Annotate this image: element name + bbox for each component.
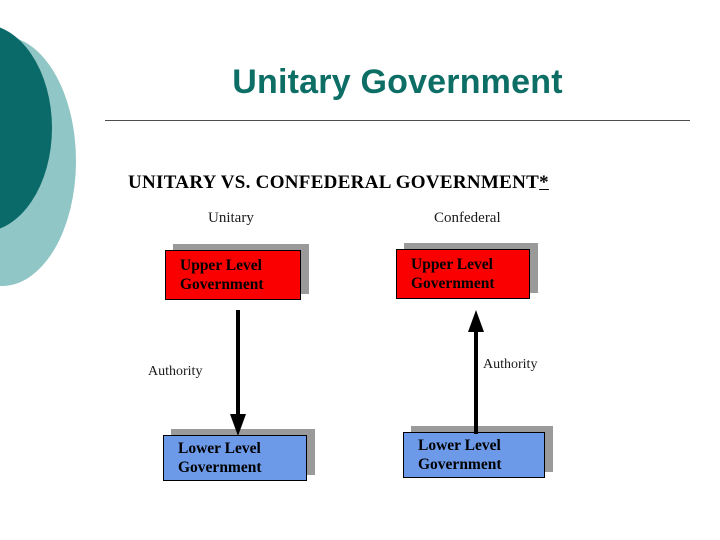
box-unitary-upper-level-government: Upper Level Government: [165, 250, 301, 300]
authority-label-unitary: Authority: [148, 364, 202, 380]
box-body: Upper Level Government: [165, 250, 301, 300]
diagram-heading-text: UNITARY VS. CONFEDERAL GOVERNMENT: [128, 172, 539, 193]
diagram-container: UNITARY VS. CONFEDERAL GOVERNMENT* Unita…: [0, 0, 720, 540]
authority-label-confederal: Authority: [483, 357, 537, 373]
box-label-line1: Lower Level: [418, 436, 544, 455]
box-body: Lower Level Government: [163, 435, 307, 481]
box-body: Lower Level Government: [403, 432, 545, 478]
box-unitary-lower-level-government: Lower Level Government: [163, 435, 307, 481]
box-label-line2: Government: [418, 455, 544, 474]
column-label-confederal: Confederal: [434, 210, 501, 227]
box-label-line2: Government: [178, 458, 306, 477]
box-label-line2: Government: [180, 275, 300, 294]
box-label-line1: Lower Level: [178, 439, 306, 458]
arrow-down-icon: [228, 310, 248, 436]
box-label-line1: Upper Level: [411, 255, 529, 274]
box-label-line1: Upper Level: [180, 256, 300, 275]
column-label-unitary: Unitary: [208, 210, 254, 227]
box-body: Upper Level Government: [396, 249, 530, 299]
box-confederal-lower-level-government: Lower Level Government: [403, 432, 545, 478]
diagram-heading-marker: *: [539, 172, 549, 193]
box-label-line2: Government: [411, 274, 529, 293]
slide-canvas: Unitary Government UNITARY VS. CONFEDERA…: [0, 0, 720, 540]
diagram-heading: UNITARY VS. CONFEDERAL GOVERNMENT*: [128, 172, 549, 194]
box-confederal-upper-level-government: Upper Level Government: [396, 249, 530, 299]
